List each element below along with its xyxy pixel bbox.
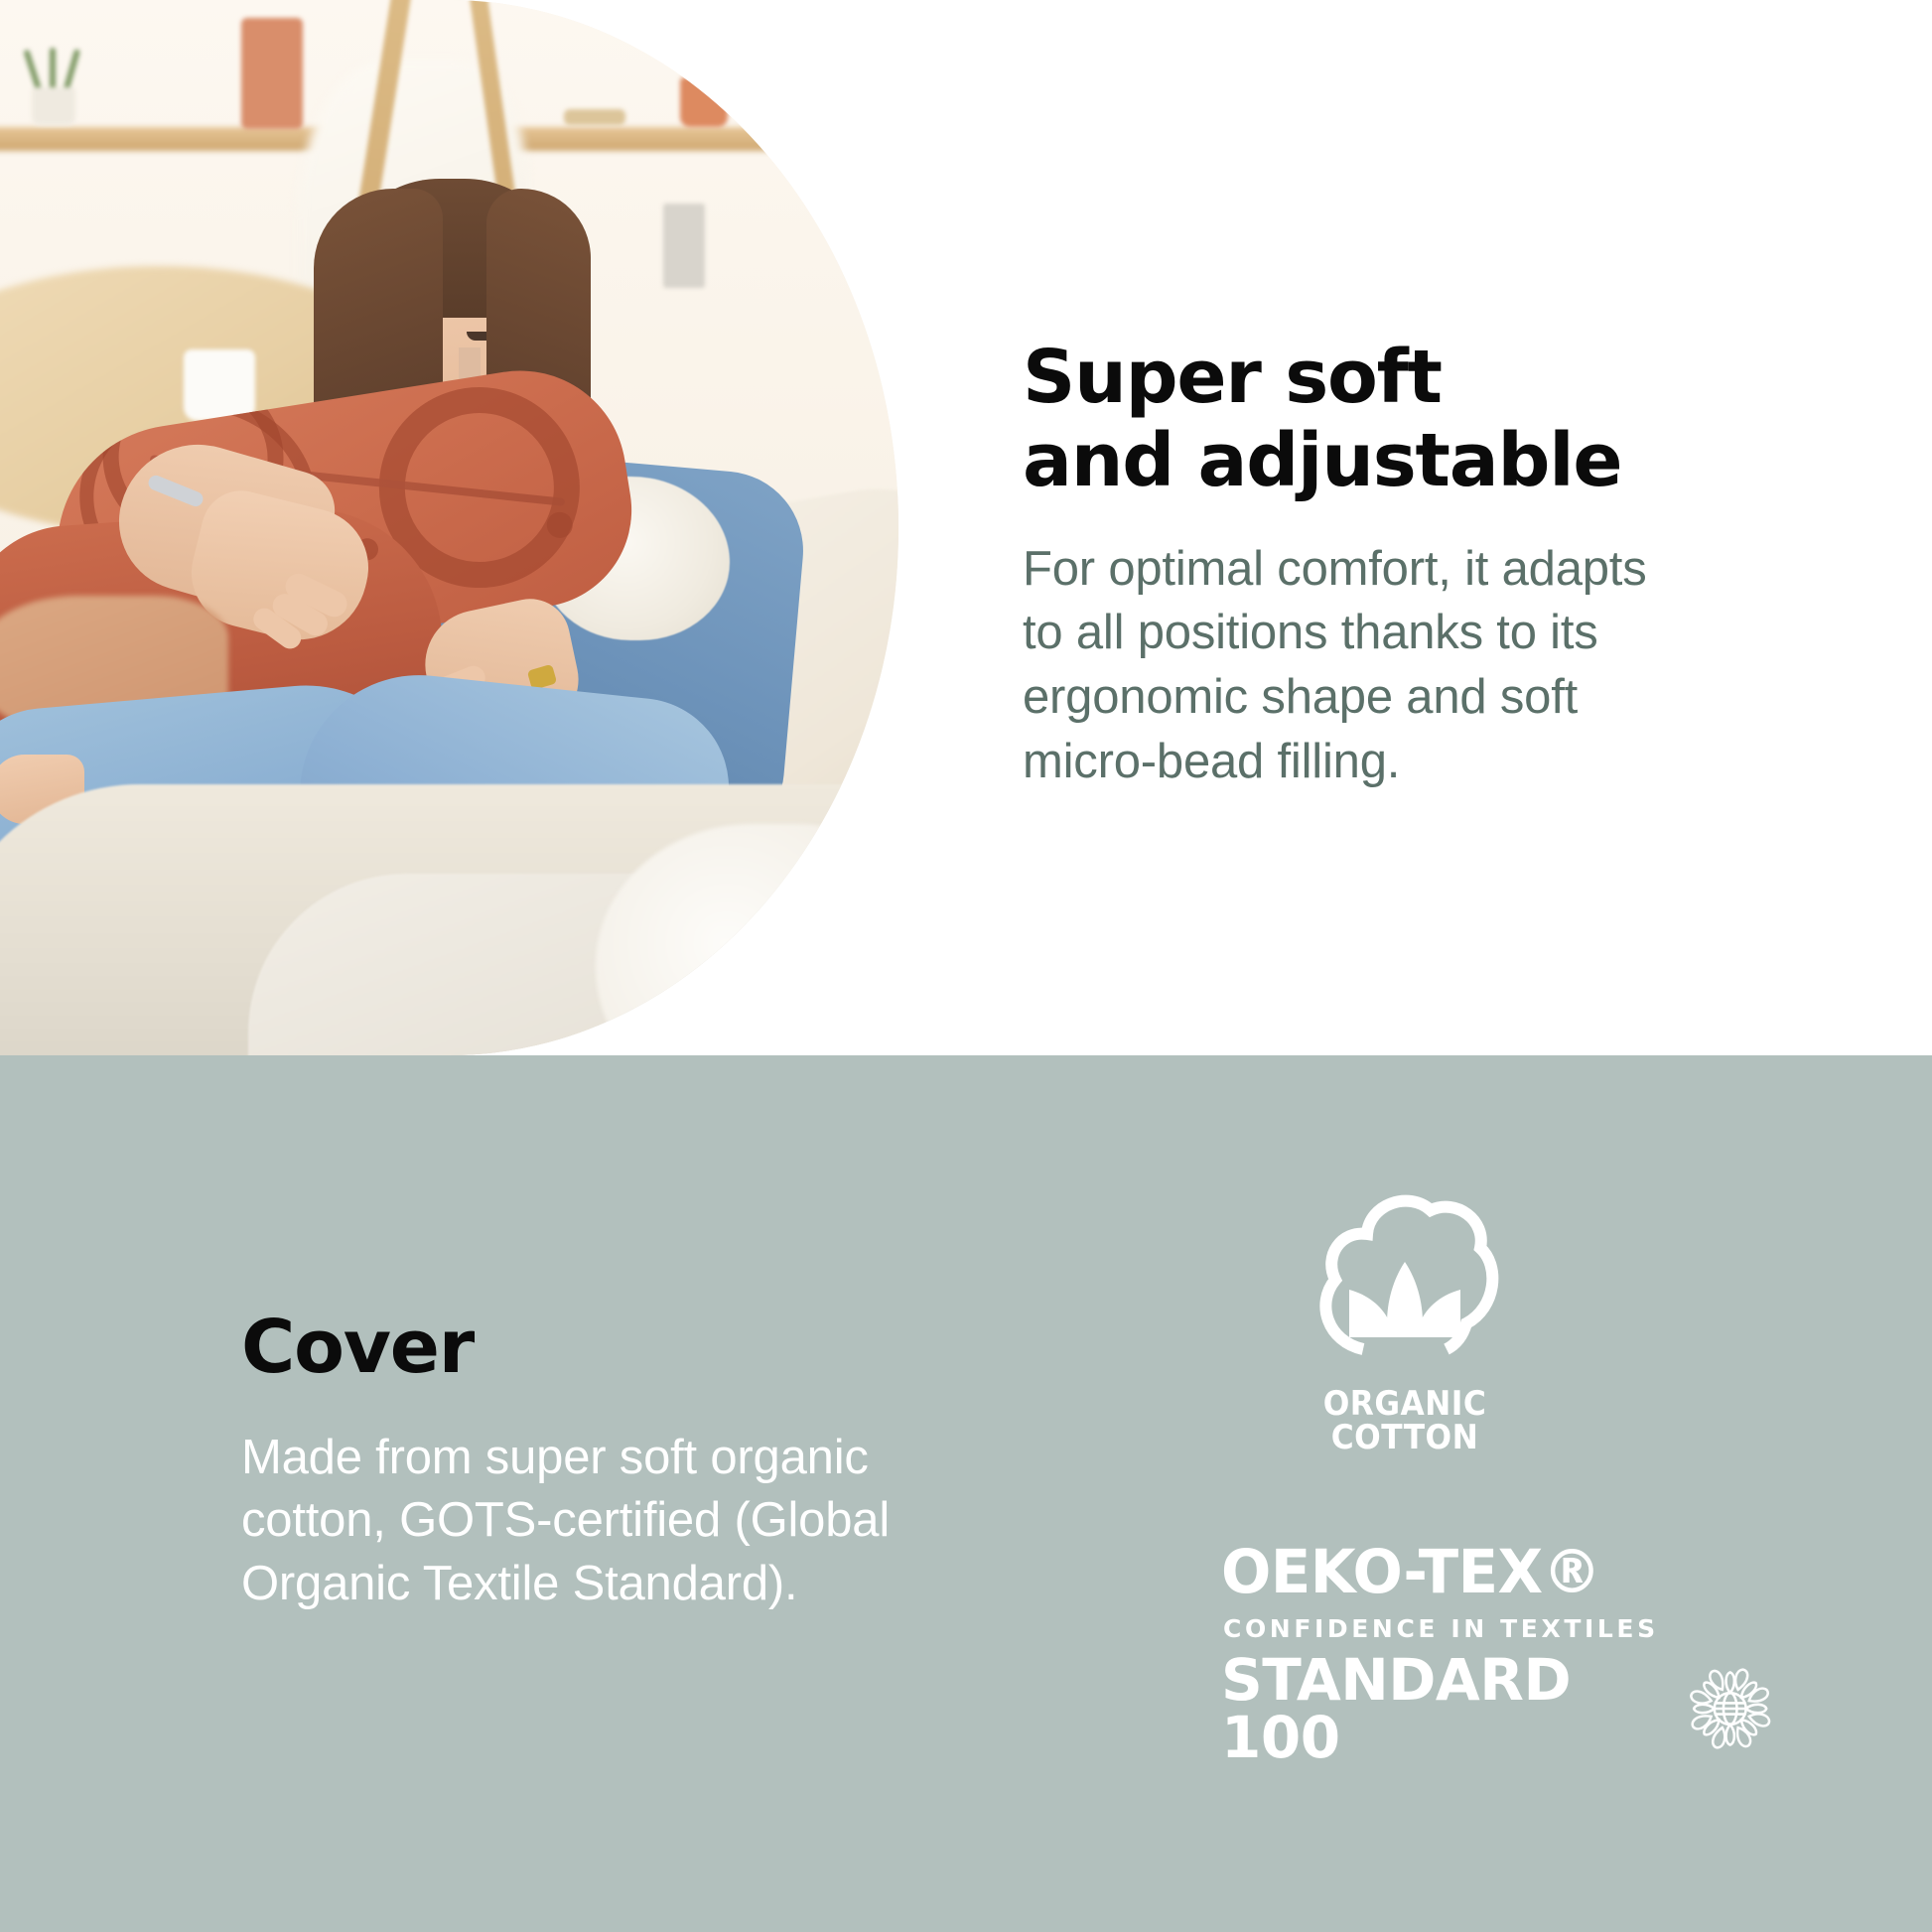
shelf-box (564, 109, 625, 125)
page-title: Super soft and adjustable (1023, 336, 1837, 503)
top-section: Super soft and adjustable For optimal co… (0, 0, 1932, 1055)
photo-scene (0, 0, 898, 1055)
oeko-tex-badge: OEKO-TEX® CONFIDENCE IN TEXTILES STANDAR… (1221, 1542, 1777, 1766)
top-description: For optimal comfort, it adapts to all po… (1023, 537, 1837, 794)
oeko-tex-standard: STANDARD 100 (1221, 1651, 1669, 1766)
organic-cotton-label: ORGANIC COTTON (1300, 1387, 1510, 1454)
cover-description: Made from super soft organic cotton, GOT… (241, 1427, 1075, 1616)
cotton-boll-icon (1306, 1184, 1504, 1379)
shelf-vase (241, 18, 303, 129)
oeko-tex-tagline: CONFIDENCE IN TEXTILES (1223, 1614, 1777, 1643)
cover-copy-block: Cover Made from super soft organic cotto… (241, 1310, 1075, 1616)
potted-plant (18, 42, 87, 125)
organic-cotton-badge: ORGANIC COTTON (1291, 1184, 1519, 1454)
oeko-tex-standard-row: STANDARD 100 (1221, 1651, 1777, 1766)
cover-heading: Cover (241, 1310, 1075, 1387)
wall-picture (663, 204, 705, 288)
shelf-cup-2 (755, 91, 788, 127)
oeko-tex-globe-icon (1683, 1657, 1777, 1760)
shelf-cup-1 (680, 77, 728, 127)
certification-badges: ORGANIC COTTON OEKO-TEX® CONFIDENCE IN T… (1181, 1055, 1797, 1932)
coffee-mug (184, 349, 255, 421)
oeko-tex-brand: OEKO-TEX® (1221, 1542, 1760, 1602)
top-copy-block: Super soft and adjustable For optimal co… (1023, 336, 1837, 793)
lifestyle-photo (0, 0, 898, 1055)
